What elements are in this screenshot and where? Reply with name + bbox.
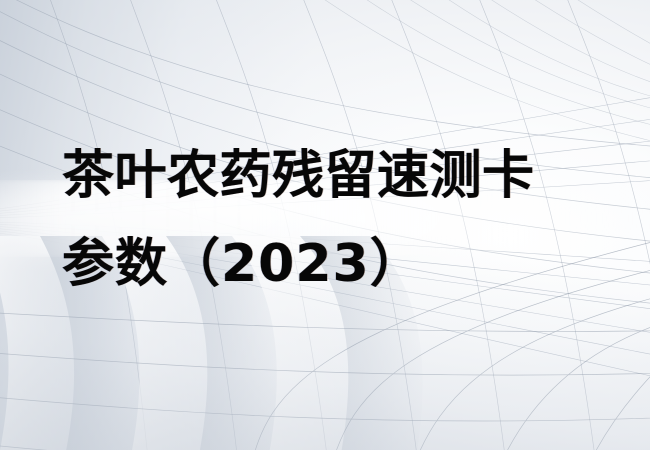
title-banner: 茶叶农药残留速测卡 参数（2023） [0,0,650,450]
title-line-primary: 茶叶农药残留速测卡 [62,132,602,220]
page-title: 茶叶农药残留速测卡 参数（2023） [62,132,602,308]
title-line-secondary: 参数（2023） [62,220,602,308]
